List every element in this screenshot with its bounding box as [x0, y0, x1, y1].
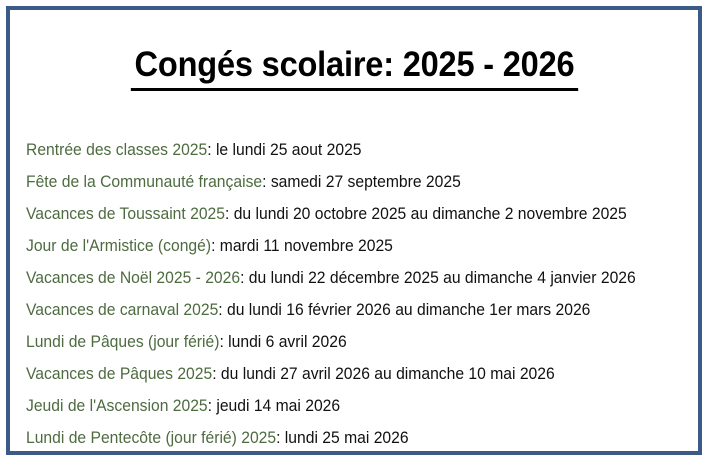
list-item: Rentrée des classes 2025: le lundi 25 ao…	[10, 134, 698, 166]
list-item: Lundi de Pâques (jour férié): lundi 6 av…	[10, 326, 698, 358]
list-item: Jeudi de l'Ascension 2025: jeudi 14 mai …	[10, 390, 698, 422]
holiday-list: Rentrée des classes 2025: le lundi 25 ao…	[10, 134, 698, 455]
holiday-label: Lundi de Pentecôte (jour férié) 2025	[26, 429, 276, 447]
list-item-content: Vacances de Pâques 2025: du lundi 27 avr…	[26, 358, 555, 390]
holiday-date: : mardi 11 novembre 2025	[211, 237, 393, 255]
list-item-content: Vacances de Toussaint 2025: du lundi 20 …	[26, 198, 627, 230]
list-item: Fête de la Communauté française: samedi …	[10, 166, 698, 198]
list-item-content: Jour de l'Armistice (congé): mardi 11 no…	[26, 230, 393, 262]
holiday-label: Fête de la Communauté française	[26, 173, 262, 191]
holiday-label: Jour de l'Armistice (congé)	[26, 237, 211, 255]
list-item-content: Rentrée des classes 2025: le lundi 25 ao…	[26, 134, 362, 166]
page-title: Congés scolaire: 2025 - 2026	[130, 44, 577, 91]
holiday-label: Vacances de Toussaint 2025	[26, 205, 225, 223]
holiday-date: : jeudi 14 mai 2026	[208, 397, 340, 415]
holiday-date: : samedi 27 septembre 2025	[262, 173, 461, 191]
holiday-label: Vacances de Noël 2025 - 2026	[26, 269, 240, 287]
holiday-date: : lundi 6 avril 2026	[219, 333, 346, 351]
list-item-content: Vacances de carnaval 2025: du lundi 16 f…	[26, 294, 590, 326]
holiday-label: Jeudi de l'Ascension 2025	[26, 397, 208, 415]
school-holidays-poster: Congés scolaire: 2025 - 2026 Rentrée des…	[6, 6, 702, 455]
holiday-date: : du lundi 27 avril 2026 au dimanche 10 …	[212, 365, 554, 383]
holiday-label: Lundi de Pâques (jour férié)	[26, 333, 219, 351]
holiday-date: : lundi 25 mai 2026	[276, 429, 408, 447]
list-item-content: Lundi de Pentecôte (jour férié) 2025: lu…	[26, 422, 409, 454]
list-item-content: Fête de la Communauté française: samedi …	[26, 166, 461, 198]
list-item-content: Jeudi de l'Ascension 2025: jeudi 14 mai …	[26, 390, 340, 422]
holiday-date: : du lundi 20 octobre 2025 au dimanche 2…	[225, 205, 627, 223]
list-item: Vacances de Noël 2025 - 2026: du lundi 2…	[10, 262, 698, 294]
list-item-content: Vacances de Noël 2025 - 2026: du lundi 2…	[26, 262, 636, 294]
holiday-label: Rentrée des classes 2025	[26, 141, 207, 159]
title-container: Congés scolaire: 2025 - 2026	[10, 10, 698, 115]
holiday-date: : le lundi 25 aout 2025	[207, 141, 361, 159]
list-item-content: Vacances d’été 2025 débute: samedi 4 jui…	[26, 454, 375, 455]
list-item: Vacances de Toussaint 2025: du lundi 20 …	[10, 198, 698, 230]
list-item: Lundi de Pentecôte (jour férié) 2025: lu…	[10, 422, 698, 454]
list-item: Vacances d’été 2025 débute: samedi 4 jui…	[10, 454, 698, 455]
holiday-label: Vacances de Pâques 2025	[26, 365, 212, 383]
list-item: Vacances de Pâques 2025: du lundi 27 avr…	[10, 358, 698, 390]
holiday-date: : du lundi 16 février 2026 au dimanche 1…	[218, 301, 590, 319]
list-item: Vacances de carnaval 2025: du lundi 16 f…	[10, 294, 698, 326]
list-item: Jour de l'Armistice (congé): mardi 11 no…	[10, 230, 698, 262]
holiday-label: Vacances de carnaval 2025	[26, 301, 218, 319]
holiday-date: : du lundi 22 décembre 2025 au dimanche …	[240, 269, 636, 287]
list-item-content: Lundi de Pâques (jour férié): lundi 6 av…	[26, 326, 347, 358]
